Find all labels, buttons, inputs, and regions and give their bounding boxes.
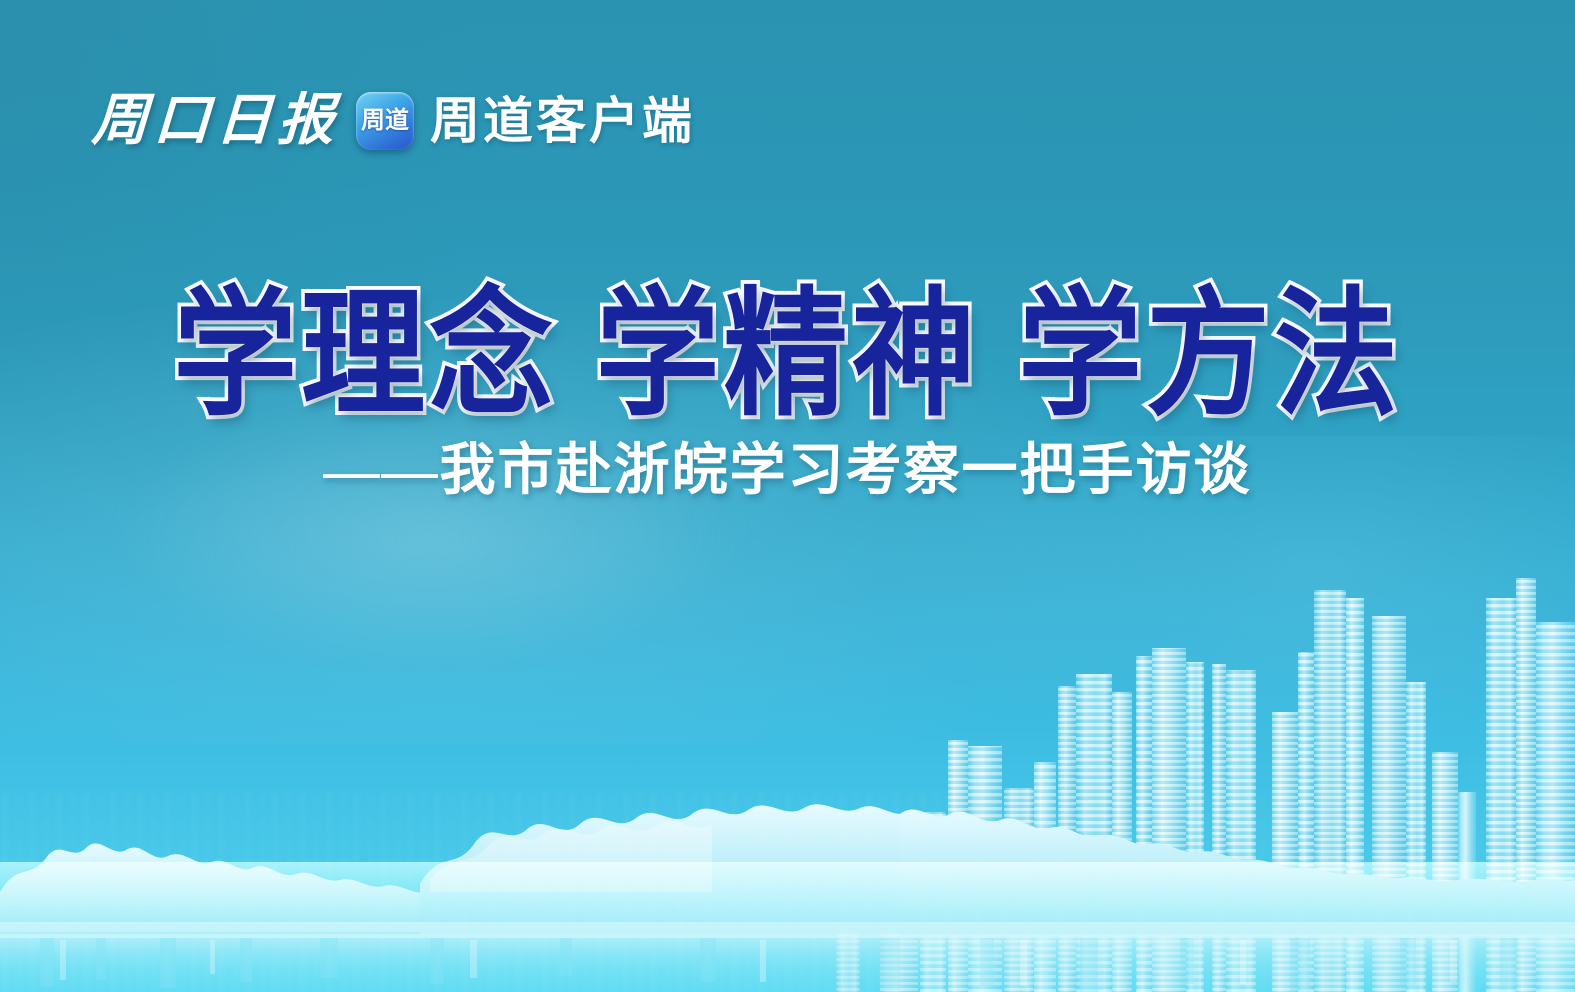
poster-canvas: 周口日报 周道 周道客户端 学理念 学精神 学方法 ——我市赴浙皖学习考察一把手… [0, 0, 1575, 992]
brand-header: 周口日报 周道 周道客户端 [92, 92, 695, 150]
client-app-name: 周道客户端 [430, 96, 695, 146]
poster-subtitle: ——我市赴浙皖学习考察一把手访谈 [0, 443, 1575, 499]
zhoudao-app-icon-label: 周道 [361, 109, 409, 133]
title-block: 学理念 学精神 学方法 ——我市赴浙皖学习考察一把手访谈 [0, 278, 1575, 499]
zhoudao-app-icon[interactable]: 周道 [356, 92, 414, 150]
poster-main-title: 学理念 学精神 学方法 [173, 278, 1402, 434]
water-streaks [0, 792, 1575, 992]
newspaper-masthead: 周口日报 [91, 93, 342, 149]
